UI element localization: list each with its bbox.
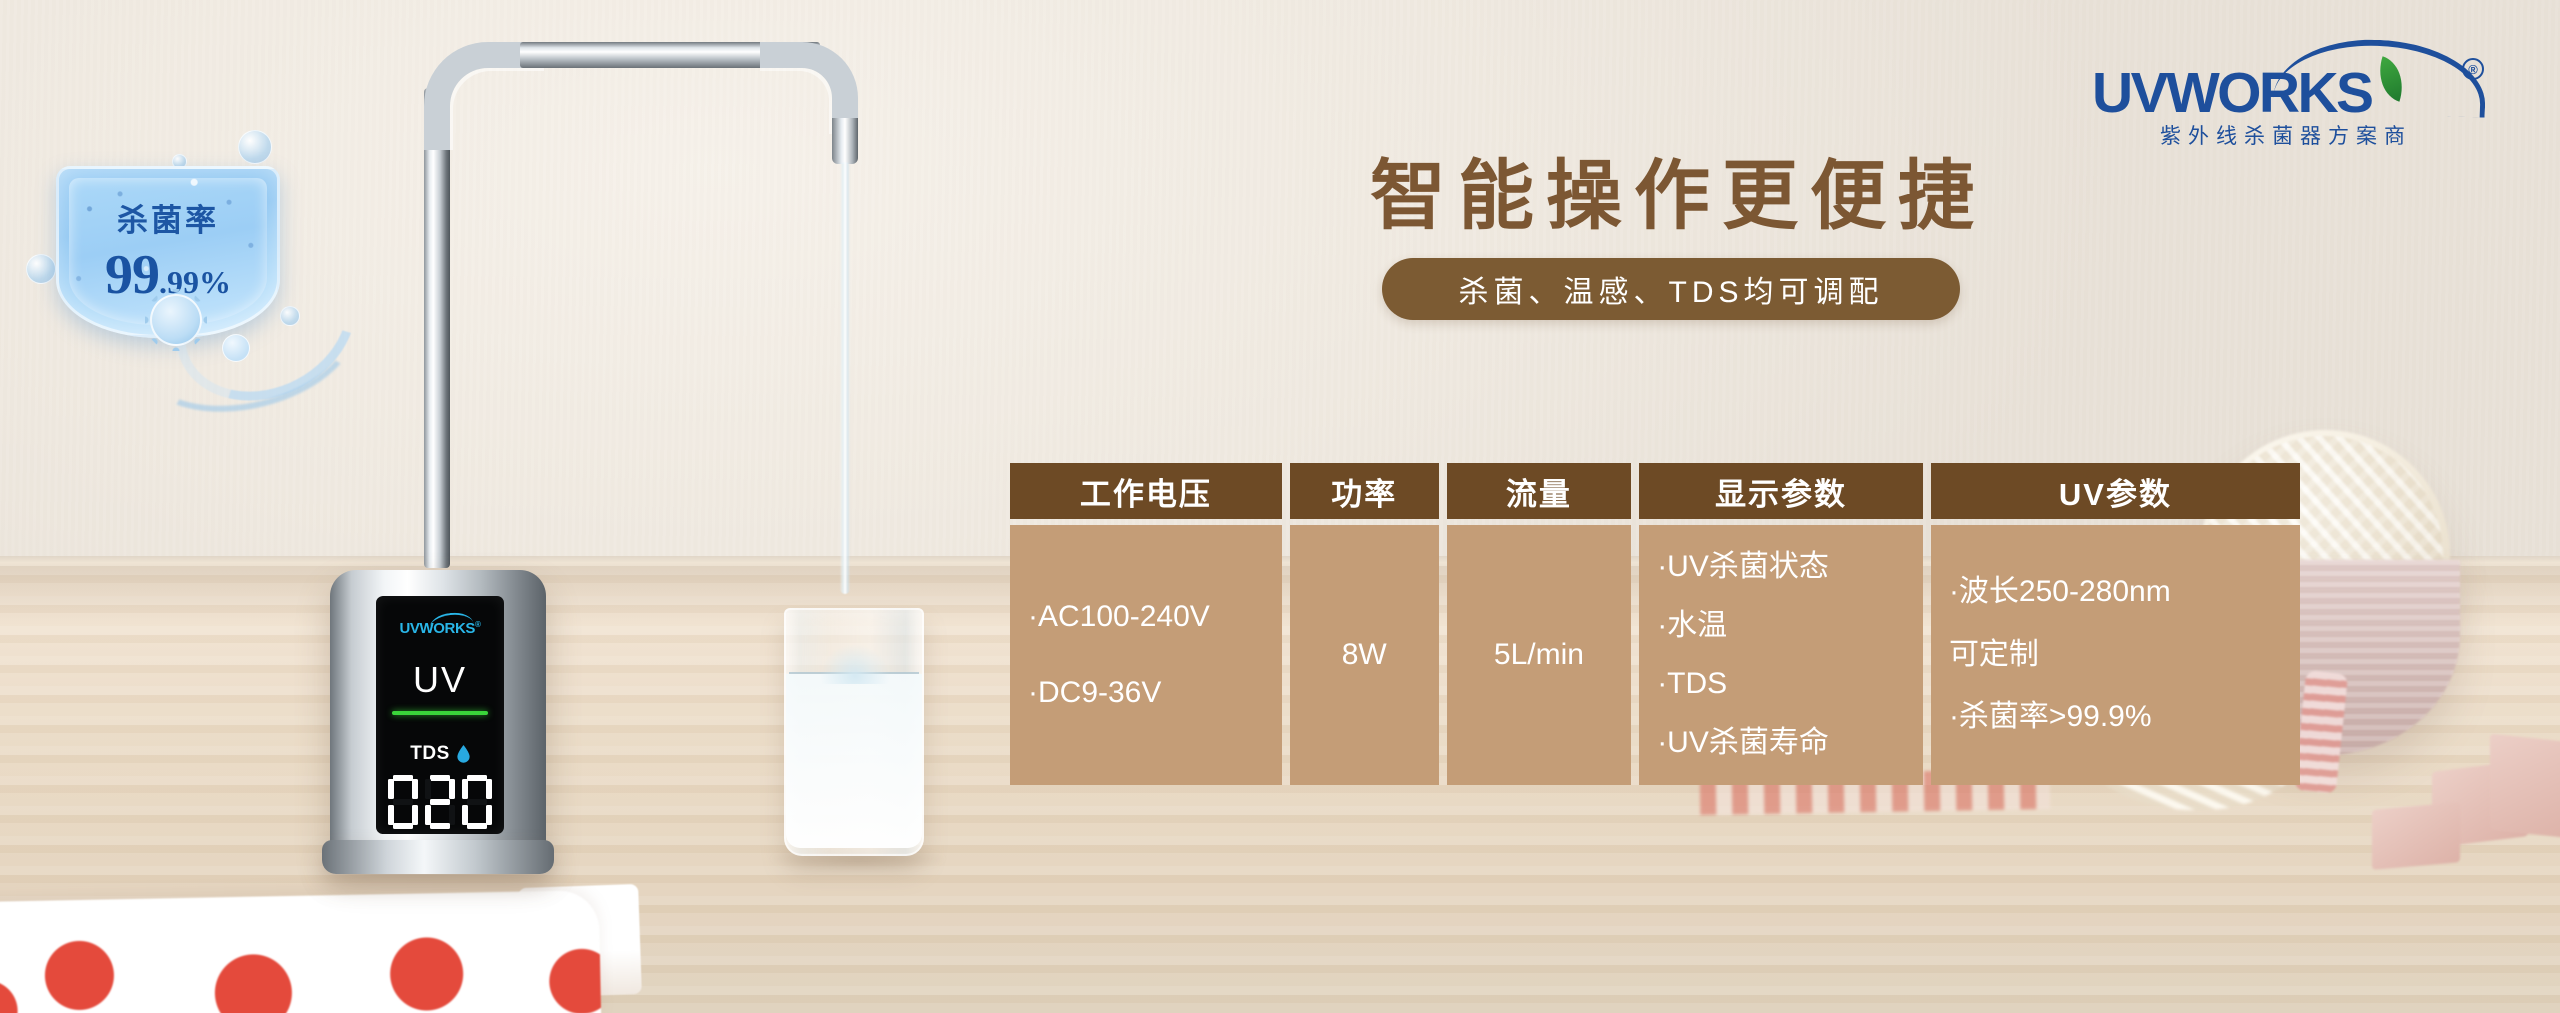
water-glass — [784, 608, 924, 856]
spec-line: ·杀菌率>99.9% — [1949, 688, 2282, 747]
column-header: UV参数 — [1931, 463, 2300, 519]
faucet-spout — [832, 118, 858, 164]
water-splash — [820, 644, 890, 684]
column-header: 流量 — [1447, 463, 1632, 519]
feature-pill: 杀菌、温感、TDS均可调配 — [1382, 258, 1960, 320]
screen-brand-logo: UVWORKS® — [399, 620, 480, 637]
screen-mode-label: UV — [413, 659, 467, 701]
spec-line: ·AC100-240V — [1028, 588, 1264, 647]
column-body: ·UV杀菌状态 ·水温 ·TDS ·UV杀菌寿命 — [1639, 525, 1923, 785]
screen-status-bar — [392, 711, 488, 715]
seven-segment-digit — [462, 775, 492, 829]
brand-tagline: 紫外线杀菌器方案商 — [2098, 120, 2474, 150]
seven-segment-digit — [388, 775, 418, 829]
column-body: ·波长250-280nm 可定制 ·杀菌率>99.9% — [1931, 525, 2300, 785]
registered-mark: ® — [2462, 58, 2484, 80]
column-header: 功率 — [1290, 463, 1439, 519]
glass-water-fill — [786, 674, 922, 848]
spec-table: 工作电压 ·AC100-240V ·DC9-36V 功率 8W 流量 5L/mi… — [1010, 463, 2300, 785]
screen-tds-digits — [388, 775, 492, 829]
spec-column-power: 功率 8W — [1290, 463, 1439, 785]
spec-line: ·水温 — [1657, 597, 1905, 656]
column-body: 5L/min — [1447, 525, 1632, 785]
spec-line: ·UV杀菌状态 — [1657, 538, 1905, 597]
logo-text: UVWORKS — [2092, 61, 2371, 125]
spec-column-flow: 流量 5L/min — [1447, 463, 1632, 785]
column-body: 8W — [1290, 525, 1439, 785]
virus-icon — [222, 334, 250, 362]
page-title: 智能操作更便捷 — [1370, 134, 1990, 244]
logo-wordmark: UVWORKS — [2092, 60, 2476, 126]
spec-line: 可定制 — [1949, 626, 2282, 685]
spec-line: ·波长250-280nm — [1949, 563, 2282, 622]
column-body: ·AC100-240V ·DC9-36V — [1010, 525, 1282, 785]
cloth-dots — [0, 890, 601, 1013]
spec-column-uv: UV参数 ·波长250-280nm 可定制 ·杀菌率>99.9% — [1931, 463, 2300, 785]
spec-line: 8W — [1342, 626, 1387, 685]
sterilization-rate-badge: 杀菌率 99.99% — [22, 138, 352, 358]
bubble-icon — [26, 254, 56, 284]
water-stream — [840, 162, 850, 594]
seven-segment-digit — [425, 775, 455, 829]
screen-tds-label: TDS — [410, 743, 450, 765]
screen-tds-row: TDS — [410, 743, 470, 765]
faucet-vertical-pipe — [424, 88, 450, 568]
polka-dot-cloth — [0, 890, 601, 1013]
column-header: 显示参数 — [1639, 463, 1923, 519]
screen-logo-mark: ® — [475, 620, 481, 629]
spec-line: 5L/min — [1494, 626, 1584, 685]
spec-column-voltage: 工作电压 ·AC100-240V ·DC9-36V — [1010, 463, 1282, 785]
product-banner: UVWORKS® UV TDS — [0, 0, 2560, 1013]
device-display-screen: UVWORKS® UV TDS — [376, 596, 504, 834]
device-base — [322, 840, 554, 874]
wooden-block — [2372, 802, 2460, 870]
column-header: 工作电压 — [1010, 463, 1282, 519]
virus-icon — [150, 294, 202, 346]
wooden-block — [2490, 734, 2560, 839]
bubble-icon — [238, 130, 272, 164]
spec-line: ·UV杀菌寿命 — [1657, 714, 1905, 773]
spec-column-display: 显示参数 ·UV杀菌状态 ·水温 ·TDS ·UV杀菌寿命 — [1639, 463, 1923, 785]
water-drop-icon — [457, 745, 470, 763]
brand-logo: UVWORKS ® 紫外线杀菌器方案商 — [2092, 36, 2480, 142]
spec-line: ·TDS — [1657, 655, 1905, 714]
badge-label: 杀菌率 — [59, 195, 277, 240]
spec-line: ·DC9-36V — [1028, 664, 1264, 723]
